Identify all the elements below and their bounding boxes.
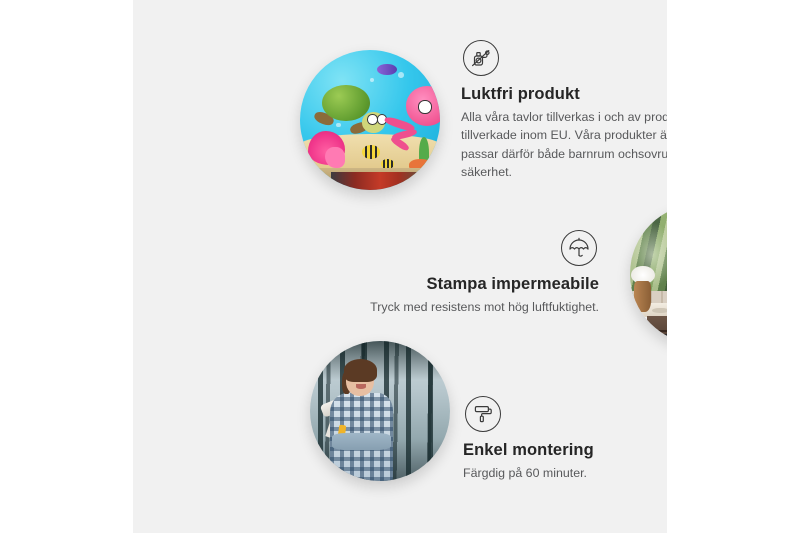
coral-icon	[325, 147, 345, 168]
feature-block-waterproof: Stampa impermeabile Tryck med resistens …	[321, 230, 599, 316]
soap-dish-icon	[652, 308, 667, 314]
woman-paint-roller-photo-art	[310, 341, 450, 481]
drawer-divider	[647, 330, 667, 332]
underwater-cartoon-photo	[300, 50, 440, 190]
umbrella-icon	[561, 230, 597, 266]
feature-title: Luktfri produkt	[461, 85, 667, 104]
room-furniture-strip	[331, 172, 440, 190]
no-fragrance-icon	[463, 40, 499, 76]
content-panel: Luktfri produkt Alla våra tavlor tillver…	[133, 0, 667, 533]
paint-roller-icon	[465, 396, 501, 432]
vase-icon	[634, 281, 651, 312]
feature-title: Stampa impermeabile	[321, 275, 599, 294]
feature-text: Tryck med resistens mot hög luftfuktighe…	[321, 298, 599, 316]
bubble-icon	[398, 72, 404, 78]
forest-canopy	[310, 341, 450, 380]
drawer-handle-icon	[661, 334, 667, 338]
woman-folded-arms	[332, 433, 391, 450]
feature-text: Alla våra tavlor tillverkas i och av pro…	[461, 108, 667, 181]
octopus-eye	[418, 100, 431, 113]
feature-block-odour-free: Luktfri produkt Alla våra tavlor tillver…	[461, 40, 667, 181]
fish-icon	[377, 64, 397, 75]
bubble-icon	[336, 123, 340, 127]
fish-icon	[362, 145, 380, 159]
underwater-cartoon-photo-art	[300, 50, 440, 190]
bathroom-wallpaper-photo	[630, 204, 667, 344]
feature-title: Enkel montering	[463, 441, 667, 460]
woman-smile	[356, 384, 366, 388]
product-feature-page: Luktfri produkt Alla våra tavlor tillver…	[0, 0, 800, 533]
bathroom-wallpaper-photo-art	[630, 204, 667, 344]
feature-block-easy-mounting: Enkel montering Färgdig på 60 minuter.	[463, 396, 667, 482]
woman-hair	[344, 359, 378, 381]
feature-text: Färgdig på 60 minuter.	[463, 464, 667, 482]
woman-paint-roller-photo	[310, 341, 450, 481]
